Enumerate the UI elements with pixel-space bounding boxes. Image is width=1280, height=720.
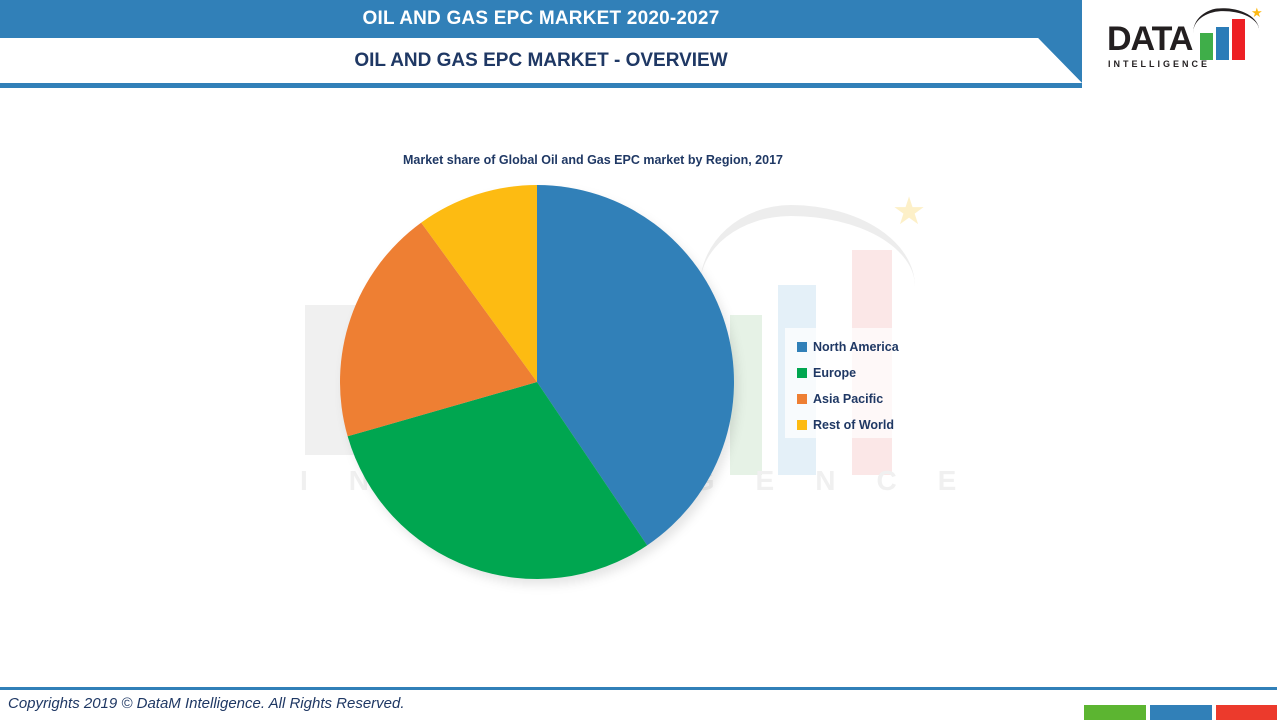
logo-bar-green [1200,33,1213,60]
footer-bar-green [1084,705,1146,720]
legend-swatch-north-america [797,342,807,352]
page-subtitle: OIL AND GAS EPC MARKET - OVERVIEW [0,38,1082,83]
legend-label-rest-of-world: Rest of World [813,418,894,432]
pie-chart [340,185,734,579]
footer-bar-blue [1150,705,1212,720]
logo-bar-red [1232,19,1245,60]
slide-root: OIL AND GAS EPC MARKET 2020-2027 OIL AND… [0,0,1280,720]
legend-label-europe: Europe [813,366,856,380]
header-rule [0,83,1082,88]
legend-swatch-europe [797,368,807,378]
legend-swatch-asia-pacific [797,394,807,404]
logo-bar-chart-icon [1200,20,1252,60]
logo-tagline: INTELLIGENCE [1108,59,1260,69]
logo-star-icon: ★ [1251,6,1263,19]
chart-legend: North America Europe Asia Pacific Rest o… [785,328,935,438]
legend-label-asia-pacific: Asia Pacific [813,392,883,406]
legend-label-north-america: North America [813,340,899,354]
footer-copyright: Copyrights 2019 © DataM Intelligence. Al… [8,695,405,712]
legend-item-rest-of-world: Rest of World [797,412,935,438]
pie-chart-svg [340,185,734,579]
legend-item-europe: Europe [797,360,935,386]
datam-intelligence-logo: ★ DATA INTELLIGENCE [1105,6,1265,78]
legend-item-asia-pacific: Asia Pacific [797,386,935,412]
legend-item-north-america: North America [797,334,935,360]
footer-bar-red [1216,705,1278,720]
logo-bar-blue [1216,27,1229,60]
chart-title: Market share of Global Oil and Gas EPC m… [403,153,783,167]
legend-swatch-rest-of-world [797,420,807,430]
footer-color-bars [1084,705,1280,720]
page-title: OIL AND GAS EPC MARKET 2020-2027 [0,0,1082,38]
footer-rule [0,687,1280,690]
logo-wordmark: DATA [1107,22,1192,56]
watermark-star-icon: ★ [892,193,926,231]
